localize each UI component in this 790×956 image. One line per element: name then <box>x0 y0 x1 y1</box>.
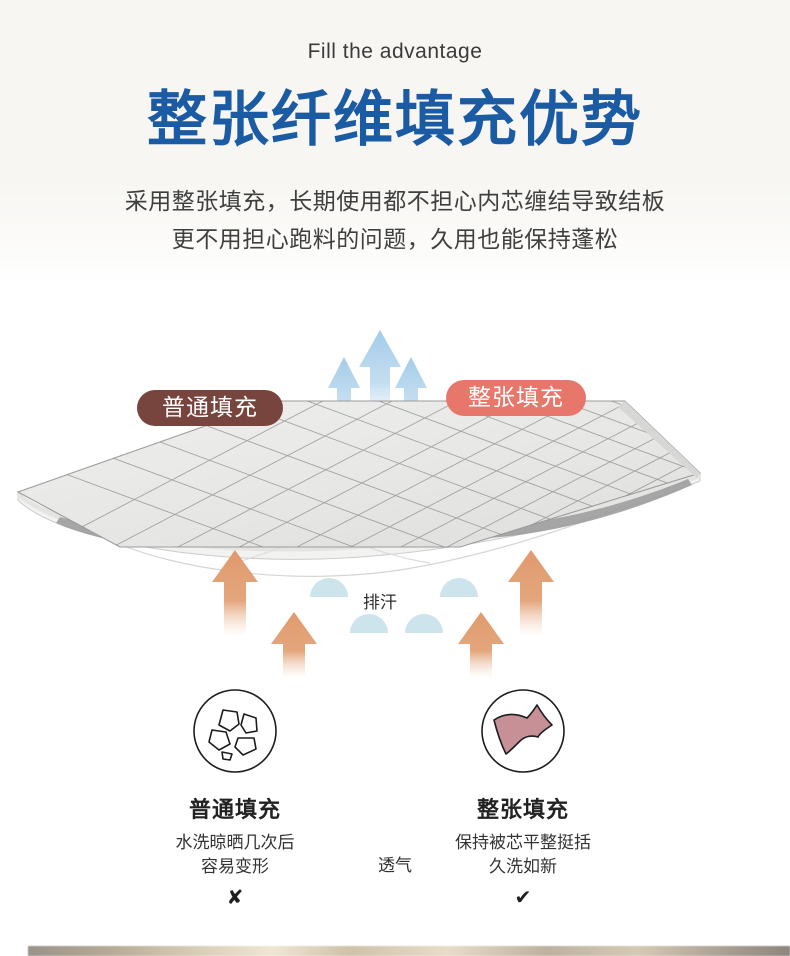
breathe-arrow-outer-right <box>508 550 554 635</box>
dome-4 <box>405 614 443 633</box>
sweat-label: 排汗 <box>330 588 430 613</box>
comparison-desc-whole-sheet-line-1: 保持被芯平整挺括 <box>393 831 653 855</box>
callout-pill-ordinary-fill: 普通填充 <box>137 390 283 426</box>
cross-icon: ✘ <box>105 884 365 910</box>
breathable-arrows-group <box>212 550 554 677</box>
comparison-desc-ordinary-line-2: 容易变形 <box>105 855 365 879</box>
eyebrow-text: Fill the advantage <box>0 40 790 64</box>
bottom-photo-strip <box>28 946 790 956</box>
dome-2 <box>440 578 478 597</box>
breathe-arrow-inner-right <box>458 612 504 677</box>
breathe-arrow-inner-left <box>271 612 317 677</box>
subtitle-line-2: 更不用担心跑料的问题，久用也能保持蓬松 <box>0 222 790 258</box>
quilt-airflow-diagram: 排汗 透气 <box>0 285 790 685</box>
comparison-section: 普通填充 水洗晾晒几次后 容易变形 ✘ 整张填充 保持被芯平整挺括 久洗如新 ✔ <box>0 688 790 928</box>
comparison-title-whole-sheet: 整张填充 <box>393 792 653 824</box>
whole-sheet-fiber-icon <box>480 688 566 774</box>
fragmented-fiber-icon <box>192 688 278 774</box>
breathe-arrow-outer-left <box>212 550 258 635</box>
subtitle-line-1: 采用整张填充，长期使用都不担心内芯缠结导致结板 <box>0 184 790 220</box>
check-icon: ✔ <box>393 884 653 910</box>
comparison-desc-whole-sheet-line-2: 久洗如新 <box>393 855 653 879</box>
page-title: 整张纤维填充优势 <box>0 88 790 152</box>
comparison-title-ordinary: 普通填充 <box>105 792 365 824</box>
quilt-diagram-svg <box>0 285 790 685</box>
comparison-column-whole-sheet: 整张填充 保持被芯平整挺括 久洗如新 ✔ <box>393 688 653 910</box>
callout-pill-whole-sheet-fill: 整张填充 <box>446 380 586 416</box>
comparison-column-ordinary: 普通填充 水洗晾晒几次后 容易变形 ✘ <box>105 688 365 910</box>
quilt-top-panel <box>18 401 700 547</box>
product-detail-page: Fill the advantage 整张纤维填充优势 采用整张填充，长期使用都… <box>0 0 790 956</box>
dome-3 <box>350 614 388 633</box>
comparison-desc-ordinary-line-1: 水洗晾晒几次后 <box>105 831 365 855</box>
